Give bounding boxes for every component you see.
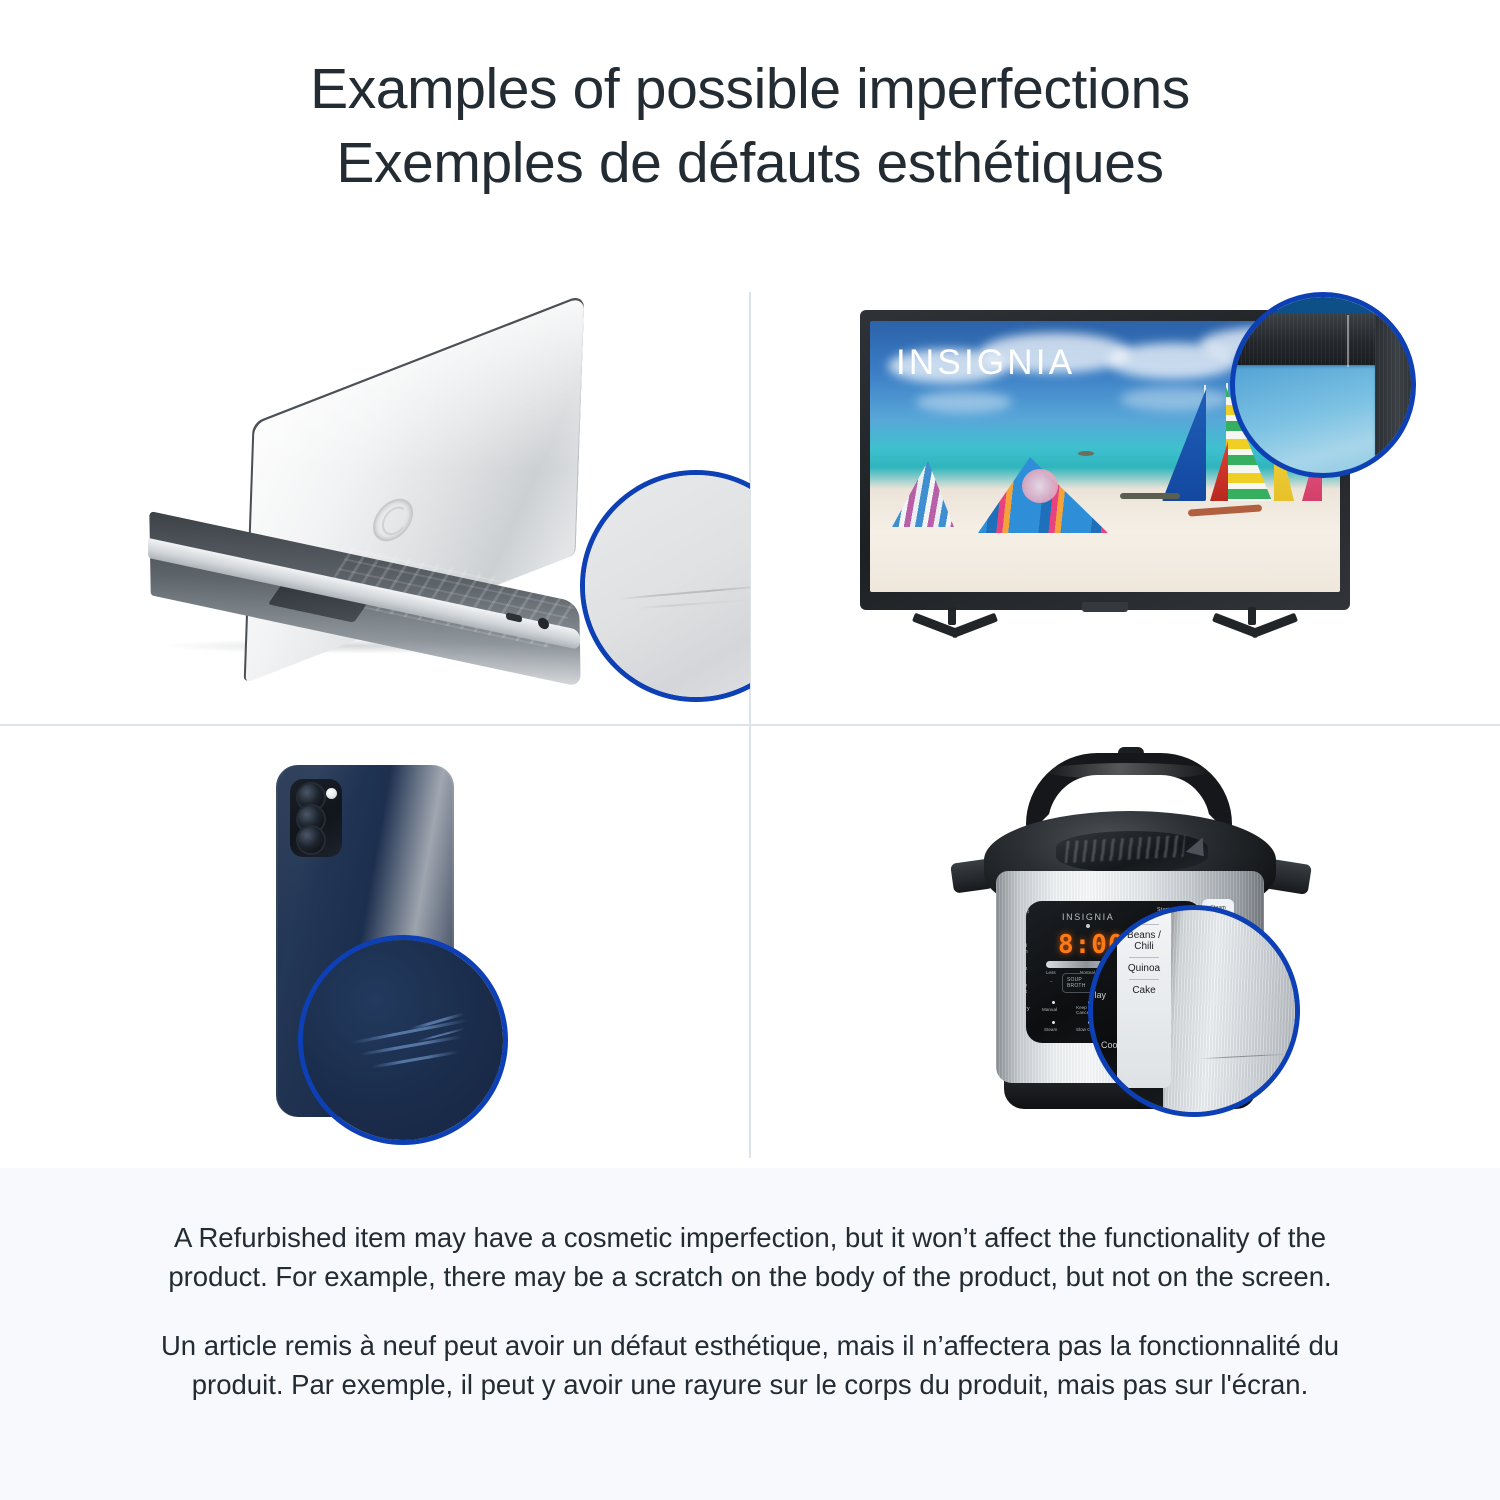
magnified-button: Cake <box>1117 985 1171 996</box>
product-example-grid: INSIGNIA <box>0 282 1500 1168</box>
magnifier-tv-surface <box>1230 292 1416 478</box>
cooker-button[interactable]: Multi Grain <box>1026 943 1034 955</box>
camera-lens-icon <box>298 827 324 853</box>
cloud-shape <box>1120 387 1230 411</box>
magnified-button: Beans / Chili <box>1117 930 1171 952</box>
camera-flash-icon <box>326 788 337 799</box>
magnified-button: Quinoa <box>1117 963 1171 974</box>
sail-red <box>1210 441 1228 501</box>
disclaimer-fr: Un article remis à neuf peut avoir un dé… <box>160 1296 1340 1404</box>
tv-stand-left <box>912 607 998 651</box>
magnified-button: Veggies <box>1117 908 1171 919</box>
pressure-label-less: Less <box>1046 970 1056 975</box>
phone-scuff-line <box>371 1050 458 1068</box>
pressure-cooker-illustration: Steam Veggies Beans / Chili Quinoa Cake … <box>940 747 1340 1147</box>
laptop-illustration <box>140 352 660 682</box>
cooker-button-manual[interactable]: Manual <box>1042 1007 1057 1012</box>
tv-logo-nub <box>1082 602 1128 612</box>
cooker-button-steam[interactable]: Steam <box>1044 1027 1057 1032</box>
cooker-status-indicator <box>1086 924 1090 928</box>
magnifier-cooker-scratch: Delay – Slow Cook Veggies Beans / Chili … <box>1088 905 1300 1117</box>
camera-module <box>290 779 342 857</box>
magnified-side-button-strip: Veggies Beans / Chili Quinoa Cake <box>1117 905 1171 1088</box>
disclaimer-en: A Refurbished item may have a cosmetic i… <box>160 1168 1340 1296</box>
beached-sail-left <box>892 461 954 527</box>
cell-pressure-cooker: Steam Veggies Beans / Chili Quinoa Cake … <box>750 725 1500 1168</box>
distant-boat <box>1078 451 1094 456</box>
magnified-label-delay: Delay <box>1088 990 1106 1000</box>
refurbished-imperfections-infographic: Examples of possible imperfections Exemp… <box>0 0 1500 1500</box>
cloud-shape <box>916 391 1012 413</box>
cooker-button[interactable]: Slow Cook <box>1026 983 1034 995</box>
tv-screen-logo: INSIGNIA <box>896 343 1075 383</box>
cell-laptop <box>0 282 750 725</box>
footer-disclaimer: A Refurbished item may have a cosmetic i… <box>0 1168 1500 1500</box>
magnified-cooker-panel: Delay – Slow Cook Veggies Beans / Chili … <box>1088 905 1163 1117</box>
page-title-fr: Exemples de défauts esthétiques <box>0 126 1500 200</box>
magnifier-phone-scuffs <box>298 935 508 1145</box>
cooker-button[interactable]: Poultry <box>1026 1006 1034 1012</box>
cooker-button[interactable]: Soup <box>1026 966 1034 972</box>
television-illustration: INSIGNIA <box>860 310 1380 690</box>
tv-bezel-scratch-line <box>1347 315 1349 367</box>
magnifier-laptop-surface <box>580 470 750 702</box>
laptop-scratch-line-secondary <box>635 599 750 609</box>
magnified-tv-screen-area <box>1230 365 1377 478</box>
smartphone-illustration <box>246 765 506 1135</box>
cooker-button[interactable]: Yogurt <box>1026 909 1034 915</box>
page-title: Examples of possible imperfections Exemp… <box>0 52 1500 200</box>
magnifier-cooker-surface: Delay – Slow Cook Veggies Beans / Chili … <box>1088 905 1300 1117</box>
cell-television: INSIGNIA <box>750 282 1500 725</box>
page-title-en: Examples of possible imperfections <box>0 52 1500 126</box>
tv-stand-right <box>1212 607 1298 651</box>
beached-boat <box>1188 504 1262 516</box>
cooker-sub-display-line2: BROTH <box>1067 983 1086 989</box>
cooker-left-button-column[interactable]: Yogurt Rice Multi Grain Soup Slow Cook P… <box>1026 909 1034 1023</box>
magnified-tv-bezel-right <box>1375 313 1416 478</box>
sail-emblem <box>1022 469 1058 503</box>
magnifier-tv-bezel-scratch <box>1230 292 1416 478</box>
cell-smartphone <box>0 725 750 1168</box>
beached-boat <box>1120 493 1180 499</box>
laptop-scratch-line <box>619 584 750 600</box>
cooker-button[interactable]: Rice <box>1026 926 1034 932</box>
magnifier-laptop-scratch <box>580 470 750 702</box>
magnifier-phone-surface <box>298 935 508 1145</box>
